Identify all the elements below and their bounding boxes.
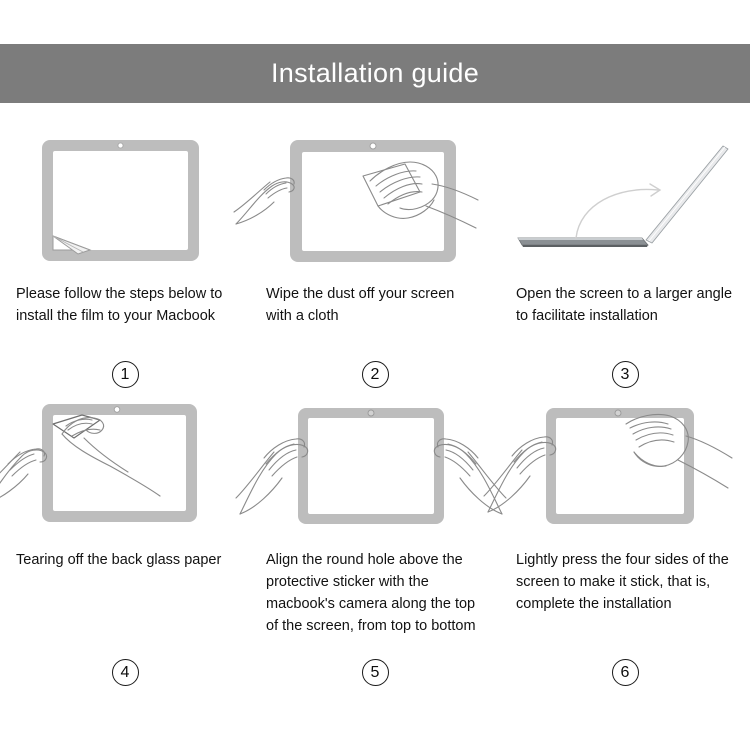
steps-row-bottom: Tearing off the back glass paper 4 — [0, 394, 750, 686]
step-1-caption: Please follow the steps below to install… — [0, 273, 250, 355]
step-6-caption: Lightly press the four sides of the scre… — [500, 539, 750, 655]
step-6-badge-wrap: 6 — [500, 659, 750, 686]
step-2-illustration — [250, 128, 500, 273]
steps-row-top: Please follow the steps below to install… — [0, 128, 750, 388]
step-1-illustration — [0, 128, 250, 273]
supporting-hand-icon — [0, 449, 47, 504]
step-number-badge: 6 — [612, 659, 639, 686]
step-2-caption: Wipe the dust off your screen with a clo… — [250, 273, 500, 355]
step-5-badge-wrap: 5 — [250, 659, 500, 686]
step-number-badge: 2 — [362, 361, 389, 388]
header-banner: Installation guide — [0, 44, 750, 103]
page-title: Installation guide — [271, 60, 479, 87]
step-6-illustration — [500, 394, 750, 539]
step-5-illustration — [250, 394, 500, 539]
step-1: Please follow the steps below to install… — [0, 128, 250, 388]
step-1-badge-wrap: 1 — [0, 361, 250, 388]
step-2-badge-wrap: 2 — [250, 361, 500, 388]
tablet-bezel-icon — [298, 408, 444, 524]
step-3-badge-wrap: 3 — [500, 361, 750, 388]
step-4: Tearing off the back glass paper 4 — [0, 394, 250, 686]
step-number-badge: 4 — [112, 659, 139, 686]
steps-grid: Please follow the steps below to install… — [0, 128, 750, 686]
right-hand-icon — [434, 439, 506, 514]
laptop-base-icon — [518, 238, 648, 247]
step-number-badge: 5 — [362, 659, 389, 686]
step-5-caption: Align the round hole above the protectiv… — [250, 539, 500, 655]
open-arc-arrow-icon — [576, 184, 660, 238]
step-2: Wipe the dust off your screen with a clo… — [250, 128, 500, 388]
installation-guide-page: Installation guide — [0, 0, 750, 750]
tablet-bezel-icon — [546, 408, 694, 524]
step-3-caption: Open the screen to a larger angle to fac… — [500, 273, 750, 355]
step-number-badge: 3 — [612, 361, 639, 388]
step-6: Lightly press the four sides of the scre… — [500, 394, 750, 686]
step-5: Align the round hole above the protectiv… — [250, 394, 500, 686]
step-4-caption: Tearing off the back glass paper — [0, 539, 250, 655]
step-3-illustration — [500, 128, 750, 273]
laptop-lid-icon — [646, 146, 728, 243]
step-3: Open the screen to a larger angle to fac… — [500, 128, 750, 388]
step-4-illustration — [0, 394, 250, 539]
step-number-badge: 1 — [112, 361, 139, 388]
step-4-badge-wrap: 4 — [0, 659, 250, 686]
